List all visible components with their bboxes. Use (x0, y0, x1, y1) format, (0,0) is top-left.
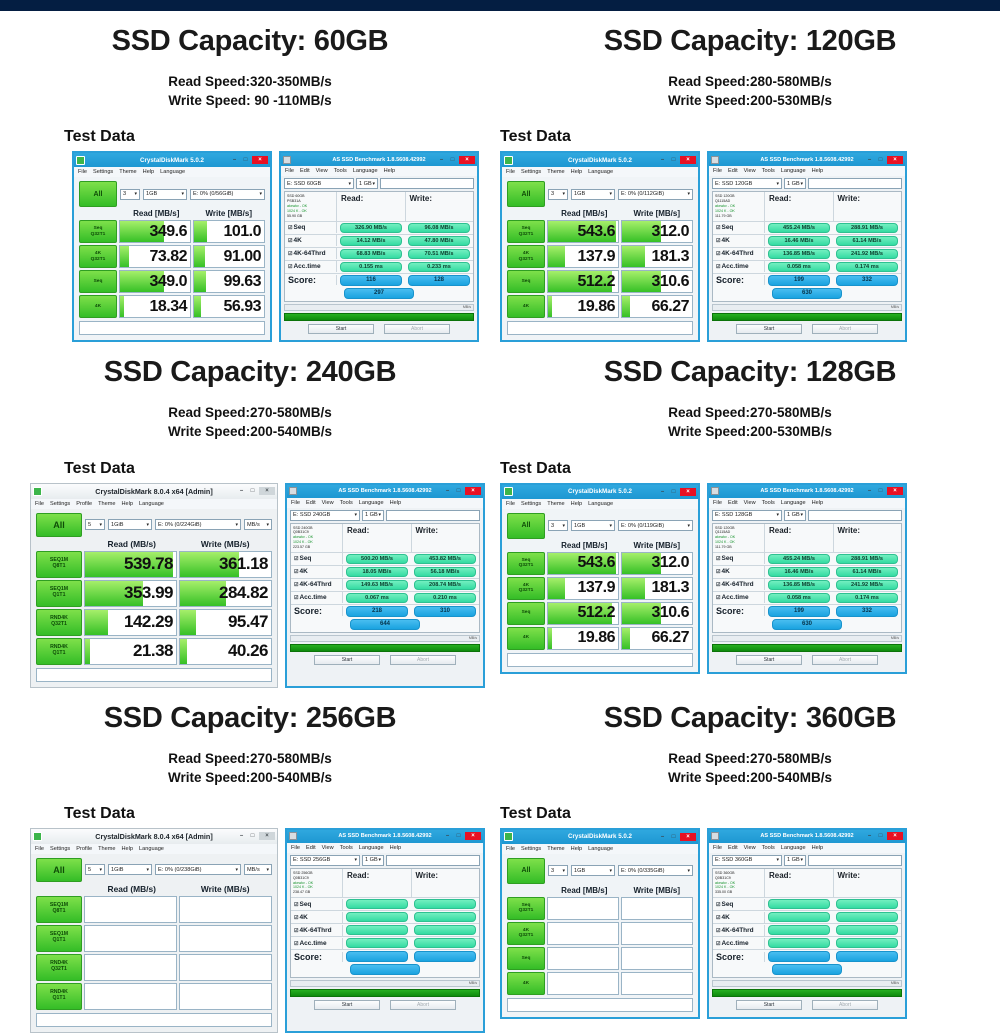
write-column-header: Write [MB/s] (621, 541, 694, 550)
read-value-cell: 21.38 (84, 638, 177, 665)
maximize-icon[interactable]: □ (448, 156, 457, 164)
row-label[interactable]: ☑Seq (713, 553, 765, 564)
checkbox-icon[interactable]: ☑ (288, 225, 292, 231)
row-label[interactable]: 4K (507, 972, 545, 995)
test-size-select[interactable]: 1GiB▾ (108, 519, 152, 530)
test-size-select[interactable]: 1GiB▾ (108, 864, 152, 875)
write-value-cell: 70.51 MB/s (405, 248, 473, 260)
minimize-icon[interactable]: – (865, 487, 874, 495)
write-value-cell: 288.91 MB/s (833, 553, 901, 565)
row-label[interactable]: ☑Acc.time (285, 261, 337, 272)
row-label[interactable]: SEQ1MQ1T1 (36, 925, 82, 952)
row-label[interactable]: ☑Seq (285, 222, 337, 233)
row-label[interactable]: ☑Seq (291, 553, 343, 564)
row-label[interactable]: Seq (79, 270, 117, 293)
chevron-down-icon: ▾ (609, 523, 612, 529)
table-row: SEQ1MQ8T1 (36, 896, 272, 923)
size-select[interactable]: 1 GB▾ (356, 178, 378, 189)
menu-item-tools[interactable]: Tools (762, 845, 775, 851)
drive-select[interactable]: E: SSD 360GB▾ (712, 855, 782, 866)
minimize-icon[interactable]: – (437, 156, 446, 164)
row-label[interactable]: Seq (507, 270, 545, 293)
menu-item-language[interactable]: Language (359, 845, 384, 851)
read-value-cell: 0.058 ms (765, 592, 833, 604)
menu-item-language[interactable]: Language (588, 501, 613, 507)
menu-item-settings[interactable]: Settings (521, 169, 541, 175)
row-label[interactable]: ☑4K-64Thrd (285, 248, 337, 259)
progress-placeholder: MB/s (712, 304, 902, 311)
drive-select[interactable]: E: SSD 240GB▾ (290, 510, 360, 521)
abort-button[interactable]: Abort (812, 324, 878, 334)
maximize-icon[interactable]: □ (248, 832, 257, 840)
row-label[interactable]: ☑Seq (291, 899, 343, 910)
run-count-select[interactable]: 5▾ (85, 864, 105, 875)
checkbox-icon[interactable]: ☑ (716, 569, 720, 575)
menu-item-edit[interactable]: Edit (728, 500, 738, 506)
menu-item-help[interactable]: Help (143, 169, 155, 175)
drive-select[interactable]: E: 0% (0/335GiB)▾ (618, 865, 693, 876)
menu-item-edit[interactable]: Edit (306, 500, 316, 506)
drive-select[interactable]: E: SSD 120GB▾ (712, 178, 782, 189)
size-select[interactable]: 1 GB▾ (784, 178, 806, 189)
benchmark-controls: E: SSD 128GB▾1 GB▾ (712, 510, 902, 521)
write-value: 310.6 (651, 273, 689, 291)
menu-item-help[interactable]: Help (812, 500, 824, 506)
row-label[interactable]: ☑Seq (713, 899, 765, 910)
abort-button[interactable]: Abort (812, 655, 878, 665)
row-label[interactable]: ☑4K (285, 235, 337, 246)
drive-select[interactable]: E: 0% (0/119GiB)▾ (618, 520, 693, 531)
close-icon[interactable]: × (680, 156, 696, 164)
menu-item-language[interactable]: Language (139, 501, 164, 507)
row-label[interactable]: RND4KQ32T1 (36, 954, 82, 981)
all-button[interactable]: All (36, 513, 82, 537)
close-icon[interactable]: × (465, 487, 481, 495)
menu-item-view[interactable]: View (322, 845, 334, 851)
menu-item-help[interactable]: Help (384, 168, 396, 174)
menu-item-view[interactable]: View (322, 500, 334, 506)
row-label[interactable]: SeqQ32T1 (507, 220, 545, 243)
minimize-icon[interactable]: – (658, 156, 667, 164)
row-label[interactable]: ☑Acc.time (713, 938, 765, 949)
menu-item-file[interactable]: File (35, 501, 44, 507)
crystaldiskmark-app-icon (504, 156, 513, 165)
path-input[interactable] (808, 178, 902, 189)
minimize-icon[interactable]: – (230, 156, 239, 164)
window-titlebar: CrystalDiskMark 5.0.2–□× (502, 485, 698, 499)
maximize-icon[interactable]: □ (241, 156, 250, 164)
write-value: 70.51 MB/s (408, 249, 470, 259)
menu-item-tools[interactable]: Tools (334, 168, 347, 174)
row-label[interactable]: ☑Acc.time (291, 592, 343, 603)
all-button[interactable]: All (36, 858, 82, 882)
checkbox-icon[interactable]: ☑ (716, 928, 720, 934)
menubar: FileEditViewToolsLanguageHelp (287, 498, 483, 508)
menu-item-tools[interactable]: Tools (340, 500, 353, 506)
write-value: 0.210 ms (414, 593, 476, 603)
row-label[interactable]: SEQ1MQ8T1 (36, 896, 82, 923)
menu-item-view[interactable]: View (744, 500, 756, 506)
run-count-select[interactable]: 3▾ (548, 865, 568, 876)
menu-item-help[interactable]: Help (571, 501, 583, 507)
minimize-icon[interactable]: – (865, 832, 874, 840)
start-button[interactable]: Start (736, 1000, 802, 1010)
maximize-icon[interactable]: □ (876, 487, 885, 495)
menu-item-help[interactable]: Help (122, 846, 134, 852)
checkbox-icon[interactable]: ☑ (288, 264, 292, 270)
menu-item-file[interactable]: File (285, 168, 294, 174)
drive-select[interactable]: E: 0% (0/112GiB)▾ (618, 189, 693, 200)
table-row: Seq512.2310.6 (507, 270, 693, 293)
window-body: All3▾1GB▾E: 0% (0/335GiB)▾Read [MB/s]Wri… (502, 854, 698, 1017)
checkbox-icon[interactable]: ☑ (716, 225, 720, 231)
row-label[interactable]: SeqQ32T1 (507, 552, 545, 575)
read-value: 21.38 (133, 641, 173, 661)
start-button[interactable]: Start (736, 655, 802, 665)
menu-item-view[interactable]: View (316, 168, 328, 174)
all-button[interactable]: All (507, 513, 545, 539)
size-select[interactable]: 1 GB▾ (784, 510, 806, 521)
read-score (346, 951, 408, 962)
checkbox-icon[interactable]: ☑ (294, 582, 298, 588)
path-input[interactable] (386, 510, 480, 521)
row-label[interactable]: ☑Acc.time (713, 261, 765, 272)
progress-placeholder: MB/s (290, 980, 480, 987)
test-size-select[interactable]: 1GB▾ (571, 189, 615, 200)
all-button[interactable]: All (79, 181, 117, 207)
menu-item-help[interactable]: Help (390, 845, 402, 851)
menu-item-tools[interactable]: Tools (340, 845, 353, 851)
chevron-down-icon: ▾ (776, 512, 779, 518)
row-label[interactable]: 4KQ32T1 (507, 922, 545, 945)
checkbox-icon[interactable]: ☑ (716, 238, 720, 244)
write-value-cell: 66.27 (621, 295, 693, 318)
drive-select[interactable]: E: SSD 256GB▾ (290, 855, 360, 866)
row-label[interactable]: RND4KQ32T1 (36, 609, 82, 636)
minimize-icon[interactable]: – (658, 488, 667, 496)
close-icon[interactable]: × (680, 488, 696, 496)
result-rows: SEQ1MQ8T1539.78361.18SEQ1MQ1T1353.99284.… (36, 551, 272, 665)
path-input[interactable] (380, 178, 474, 189)
row-label-line1: 4K (523, 304, 529, 310)
window-titlebar: CrystalDiskMark 5.0.2–□× (74, 153, 270, 167)
checkbox-icon[interactable]: ☑ (294, 915, 298, 921)
menu-item-language[interactable]: Language (139, 846, 164, 852)
menu-item-settings[interactable]: Settings (93, 169, 113, 175)
checkbox-icon[interactable]: ☑ (716, 902, 720, 908)
menu-item-edit[interactable]: Edit (728, 168, 738, 174)
run-count-select[interactable]: 3▾ (548, 189, 568, 200)
minimize-icon[interactable]: – (237, 832, 246, 840)
write-value-cell (411, 898, 479, 910)
drive-select[interactable]: E: 0% (0/224GiB)▾ (155, 519, 241, 530)
abort-button[interactable]: Abort (390, 655, 456, 665)
write-value: 99.63 (223, 273, 261, 291)
write-value-cell: 96.08 MB/s (405, 222, 473, 234)
benchmark-screenshots: CrystalDiskMark 8.0.4 x64 [Admin]–□×File… (0, 483, 500, 688)
menu-item-tools[interactable]: Tools (762, 168, 775, 174)
table-row: SeqQ32T1 (507, 897, 693, 920)
drive-select[interactable]: E: 0% (0/56GiB)▾ (190, 189, 265, 200)
maximize-icon[interactable]: □ (669, 488, 678, 496)
checkbox-icon[interactable]: ☑ (716, 264, 720, 270)
checkbox-icon[interactable]: ☑ (294, 928, 298, 934)
row-label[interactable]: ☑4K-64Thrd (713, 925, 765, 936)
row-label[interactable]: ☑4K (713, 566, 765, 577)
chevron-down-icon: ▾ (378, 857, 381, 863)
checkbox-icon[interactable]: ☑ (294, 556, 298, 562)
unit-value: MB/s (247, 522, 260, 528)
maximize-icon[interactable]: □ (876, 156, 885, 164)
row-label[interactable]: 4KQ32T1 (507, 245, 545, 268)
test-size-select[interactable]: 1GB▾ (571, 865, 615, 876)
write-column-header: Write: (834, 192, 902, 220)
menu-item-language[interactable]: Language (359, 500, 384, 506)
write-value-cell: 0.174 ms (833, 592, 901, 604)
row-label[interactable]: 4K (507, 627, 545, 650)
menu-item-help[interactable]: Help (390, 500, 402, 506)
write-column-header: Write (MB/s) (179, 539, 273, 549)
menu-item-settings[interactable]: Settings (521, 846, 541, 852)
close-icon[interactable]: × (680, 833, 696, 841)
menu-item-edit[interactable]: Edit (306, 845, 316, 851)
menu-item-file[interactable]: File (35, 846, 44, 852)
maximize-icon[interactable]: □ (876, 832, 885, 840)
benchmark-controls: All3▾1GB▾E: 0% (0/119GiB)▾ (507, 513, 693, 539)
start-button[interactable]: Start (314, 655, 380, 665)
row-label[interactable]: RND4KQ1T1 (36, 983, 82, 1010)
menu-item-profile[interactable]: Profile (76, 501, 92, 507)
maximize-icon[interactable]: □ (248, 487, 257, 495)
run-count-select[interactable]: 3▾ (120, 189, 140, 200)
write-score: 332 (836, 606, 898, 617)
all-button[interactable]: All (507, 181, 545, 207)
test-size-value: 1GB (574, 523, 585, 529)
progress-bar (712, 644, 902, 652)
size-select[interactable]: 1 GB▾ (362, 510, 384, 521)
menu-item-file[interactable]: File (506, 846, 515, 852)
window-buttons: –□× (865, 832, 903, 840)
row-label[interactable]: 4K (79, 295, 117, 318)
menu-item-file[interactable]: File (291, 500, 300, 506)
read-value: 73.82 (149, 248, 187, 266)
checkbox-icon[interactable]: ☑ (294, 595, 298, 601)
maximize-icon[interactable]: □ (454, 832, 463, 840)
menu-item-theme[interactable]: Theme (98, 501, 115, 507)
checkbox-icon[interactable]: ☑ (716, 582, 720, 588)
menu-item-help[interactable]: Help (812, 845, 824, 851)
menu-item-settings[interactable]: Settings (50, 501, 70, 507)
menu-item-file[interactable]: File (506, 501, 515, 507)
row-label-text: Seq (721, 555, 733, 562)
menu-item-tools[interactable]: Tools (762, 500, 775, 506)
minimize-icon[interactable]: – (237, 487, 246, 495)
menu-item-language[interactable]: Language (781, 500, 806, 506)
drive-select[interactable]: E: SSD 60GB▾ (284, 178, 354, 189)
row-label[interactable]: ☑4K (291, 912, 343, 923)
row-label-text: 4K (721, 914, 729, 921)
row-label[interactable]: ☑4K-64Thrd (291, 579, 343, 590)
panel-row: SSD Capacity: 240GBRead Speed:270-580MB/… (0, 342, 1000, 687)
run-count-select[interactable]: 3▾ (548, 520, 568, 531)
menu-item-theme[interactable]: Theme (119, 169, 136, 175)
row-label[interactable]: ☑4K (291, 566, 343, 577)
write-speed-text: Write Speed:200-540MB/s (0, 768, 500, 787)
row-label[interactable]: ☑Acc.time (291, 938, 343, 949)
checkbox-icon[interactable]: ☑ (716, 556, 720, 562)
all-button[interactable]: All (507, 858, 545, 884)
path-input[interactable] (386, 855, 480, 866)
checkbox-icon[interactable]: ☑ (716, 941, 720, 947)
checkbox-icon[interactable]: ☑ (716, 251, 720, 257)
menu-item-file[interactable]: File (713, 845, 722, 851)
menu-item-theme[interactable]: Theme (547, 846, 564, 852)
row-label[interactable]: SEQ1MQ8T1 (36, 551, 82, 578)
speed-spec: Read Speed:270-580MB/sWrite Speed:200-54… (500, 749, 1000, 787)
close-icon[interactable]: × (259, 832, 275, 840)
menu-item-language[interactable]: Language (160, 169, 185, 175)
checkbox-icon[interactable]: ☑ (294, 941, 298, 947)
size-select[interactable]: 1 GB▾ (784, 855, 806, 866)
close-icon[interactable]: × (459, 156, 475, 164)
result-rows: SeqQ32T14KQ32T1Seq4K (507, 897, 693, 995)
close-icon[interactable]: × (887, 487, 903, 495)
menu-item-settings[interactable]: Settings (521, 501, 541, 507)
grid-header: SSD 240GBQ0B31C9akxwkv - OK1024 K - OK22… (291, 524, 479, 552)
write-speed-text: Write Speed: 90 -110MB/s (0, 91, 500, 110)
menu-item-settings[interactable]: Settings (50, 846, 70, 852)
menu-item-help[interactable]: Help (122, 501, 134, 507)
menu-item-file[interactable]: File (713, 500, 722, 506)
drive-value: E: SSD 120GB (715, 181, 752, 187)
menu-item-file[interactable]: File (506, 169, 515, 175)
drive-select[interactable]: E: 0% (0/238GiB)▾ (155, 864, 241, 875)
write-value-cell: 310.6 (621, 270, 693, 293)
ssd-panel: SSD Capacity: 256GBRead Speed:270-580MB/… (0, 688, 500, 1033)
unit-select[interactable]: MB/s▾ (244, 519, 272, 530)
minimize-icon[interactable]: – (865, 156, 874, 164)
read-value (768, 938, 830, 948)
row-label[interactable]: ☑4K-64Thrd (713, 579, 765, 590)
checkbox-icon[interactable]: ☑ (716, 915, 720, 921)
row-label[interactable]: ☑4K (713, 912, 765, 923)
menu-item-view[interactable]: View (744, 168, 756, 174)
checkbox-icon[interactable]: ☑ (294, 569, 298, 575)
menu-item-help[interactable]: Help (571, 846, 583, 852)
checkbox-icon[interactable]: ☑ (294, 902, 298, 908)
row-label[interactable]: ☑Seq (713, 222, 765, 233)
row-label[interactable]: ☑4K-64Thrd (713, 248, 765, 259)
menu-item-help[interactable]: Help (571, 169, 583, 175)
path-input[interactable] (808, 855, 902, 866)
crystaldiskmark-app-icon (76, 156, 85, 165)
menu-item-file[interactable]: File (78, 169, 87, 175)
write-bar (194, 271, 206, 292)
menu-item-theme[interactable]: Theme (547, 169, 564, 175)
close-icon[interactable]: × (887, 832, 903, 840)
row-label[interactable]: SEQ1MQ1T1 (36, 580, 82, 607)
abort-button[interactable]: Abort (812, 1000, 878, 1010)
checkbox-icon[interactable]: ☑ (288, 238, 292, 244)
test-size-select[interactable]: 1GB▾ (143, 189, 187, 200)
menu-item-edit[interactable]: Edit (728, 845, 738, 851)
top-accent-bar (0, 0, 1000, 11)
minimize-icon[interactable]: – (658, 833, 667, 841)
write-value-cell (621, 922, 693, 945)
menu-item-language[interactable]: Language (781, 845, 806, 851)
row-label[interactable]: 4KQ32T1 (507, 577, 545, 600)
close-icon[interactable]: × (259, 487, 275, 495)
unit-value: MB/s (247, 867, 260, 873)
close-icon[interactable]: × (465, 832, 481, 840)
menu-item-language[interactable]: Language (588, 846, 613, 852)
row-label[interactable]: 4KQ32T1 (79, 245, 117, 268)
minimize-icon[interactable]: – (443, 487, 452, 495)
row-label[interactable]: Seq (507, 947, 545, 970)
menu-item-file[interactable]: File (291, 845, 300, 851)
menu-item-file[interactable]: File (713, 168, 722, 174)
run-count-select[interactable]: 5▾ (85, 519, 105, 530)
test-size-select[interactable]: 1GB▾ (571, 520, 615, 531)
start-button[interactable]: Start (314, 1000, 380, 1010)
row-label[interactable]: ☑Acc.time (713, 592, 765, 603)
menu-item-theme[interactable]: Theme (98, 846, 115, 852)
row-label[interactable]: 4K (507, 295, 545, 318)
maximize-icon[interactable]: □ (454, 487, 463, 495)
start-button[interactable]: Start (308, 324, 374, 334)
benchmark-controls: E: SSD 60GB▾1 GB▾ (284, 178, 474, 189)
unit-select[interactable]: MB/s▾ (244, 864, 272, 875)
menu-item-language[interactable]: Language (781, 168, 806, 174)
size-select[interactable]: 1 GB▾ (362, 855, 384, 866)
drive-select[interactable]: E: SSD 128GB▾ (712, 510, 782, 521)
row-label[interactable]: ☑4K-64Thrd (291, 925, 343, 936)
progress-area: MB/s (284, 304, 474, 321)
menu-item-view[interactable]: View (744, 845, 756, 851)
menu-item-edit[interactable]: Edit (300, 168, 310, 174)
menu-item-help[interactable]: Help (812, 168, 824, 174)
close-icon[interactable]: × (887, 156, 903, 164)
menu-item-language[interactable]: Language (588, 169, 613, 175)
table-row: 4K19.8666.27 (507, 627, 693, 650)
checkbox-icon[interactable]: ☑ (288, 251, 292, 257)
abort-button[interactable]: Abort (384, 324, 450, 334)
drive-value: E: 0% (0/119GiB) (621, 523, 664, 529)
row-label[interactable]: RND4KQ1T1 (36, 638, 82, 665)
row-label[interactable]: ☑4K (713, 235, 765, 246)
menu-item-profile[interactable]: Profile (76, 846, 92, 852)
chevron-down-icon: ▾ (235, 867, 238, 873)
menu-item-theme[interactable]: Theme (547, 501, 564, 507)
drive-info-line: 111.79 GB (715, 214, 762, 219)
drive-info: SSD 120GBQ1115ADakxwkv - OK1024 K - OK11… (713, 192, 765, 220)
row-label[interactable]: SeqQ32T1 (507, 897, 545, 920)
chevron-down-icon: ▾ (562, 523, 565, 529)
row-label[interactable]: Seq (507, 602, 545, 625)
maximize-icon[interactable]: □ (669, 833, 678, 841)
path-input[interactable] (808, 510, 902, 521)
results-grid: SSD 240GBQ0B31C9akxwkv - OK1024 K - OK22… (290, 523, 480, 633)
maximize-icon[interactable]: □ (669, 156, 678, 164)
checkbox-icon[interactable]: ☑ (716, 595, 720, 601)
start-button[interactable]: Start (736, 324, 802, 334)
close-icon[interactable]: × (252, 156, 268, 164)
row-label[interactable]: SeqQ32T1 (79, 220, 117, 243)
write-value-cell (833, 937, 901, 949)
minimize-icon[interactable]: – (443, 832, 452, 840)
abort-button[interactable]: Abort (390, 1000, 456, 1010)
menu-item-language[interactable]: Language (353, 168, 378, 174)
